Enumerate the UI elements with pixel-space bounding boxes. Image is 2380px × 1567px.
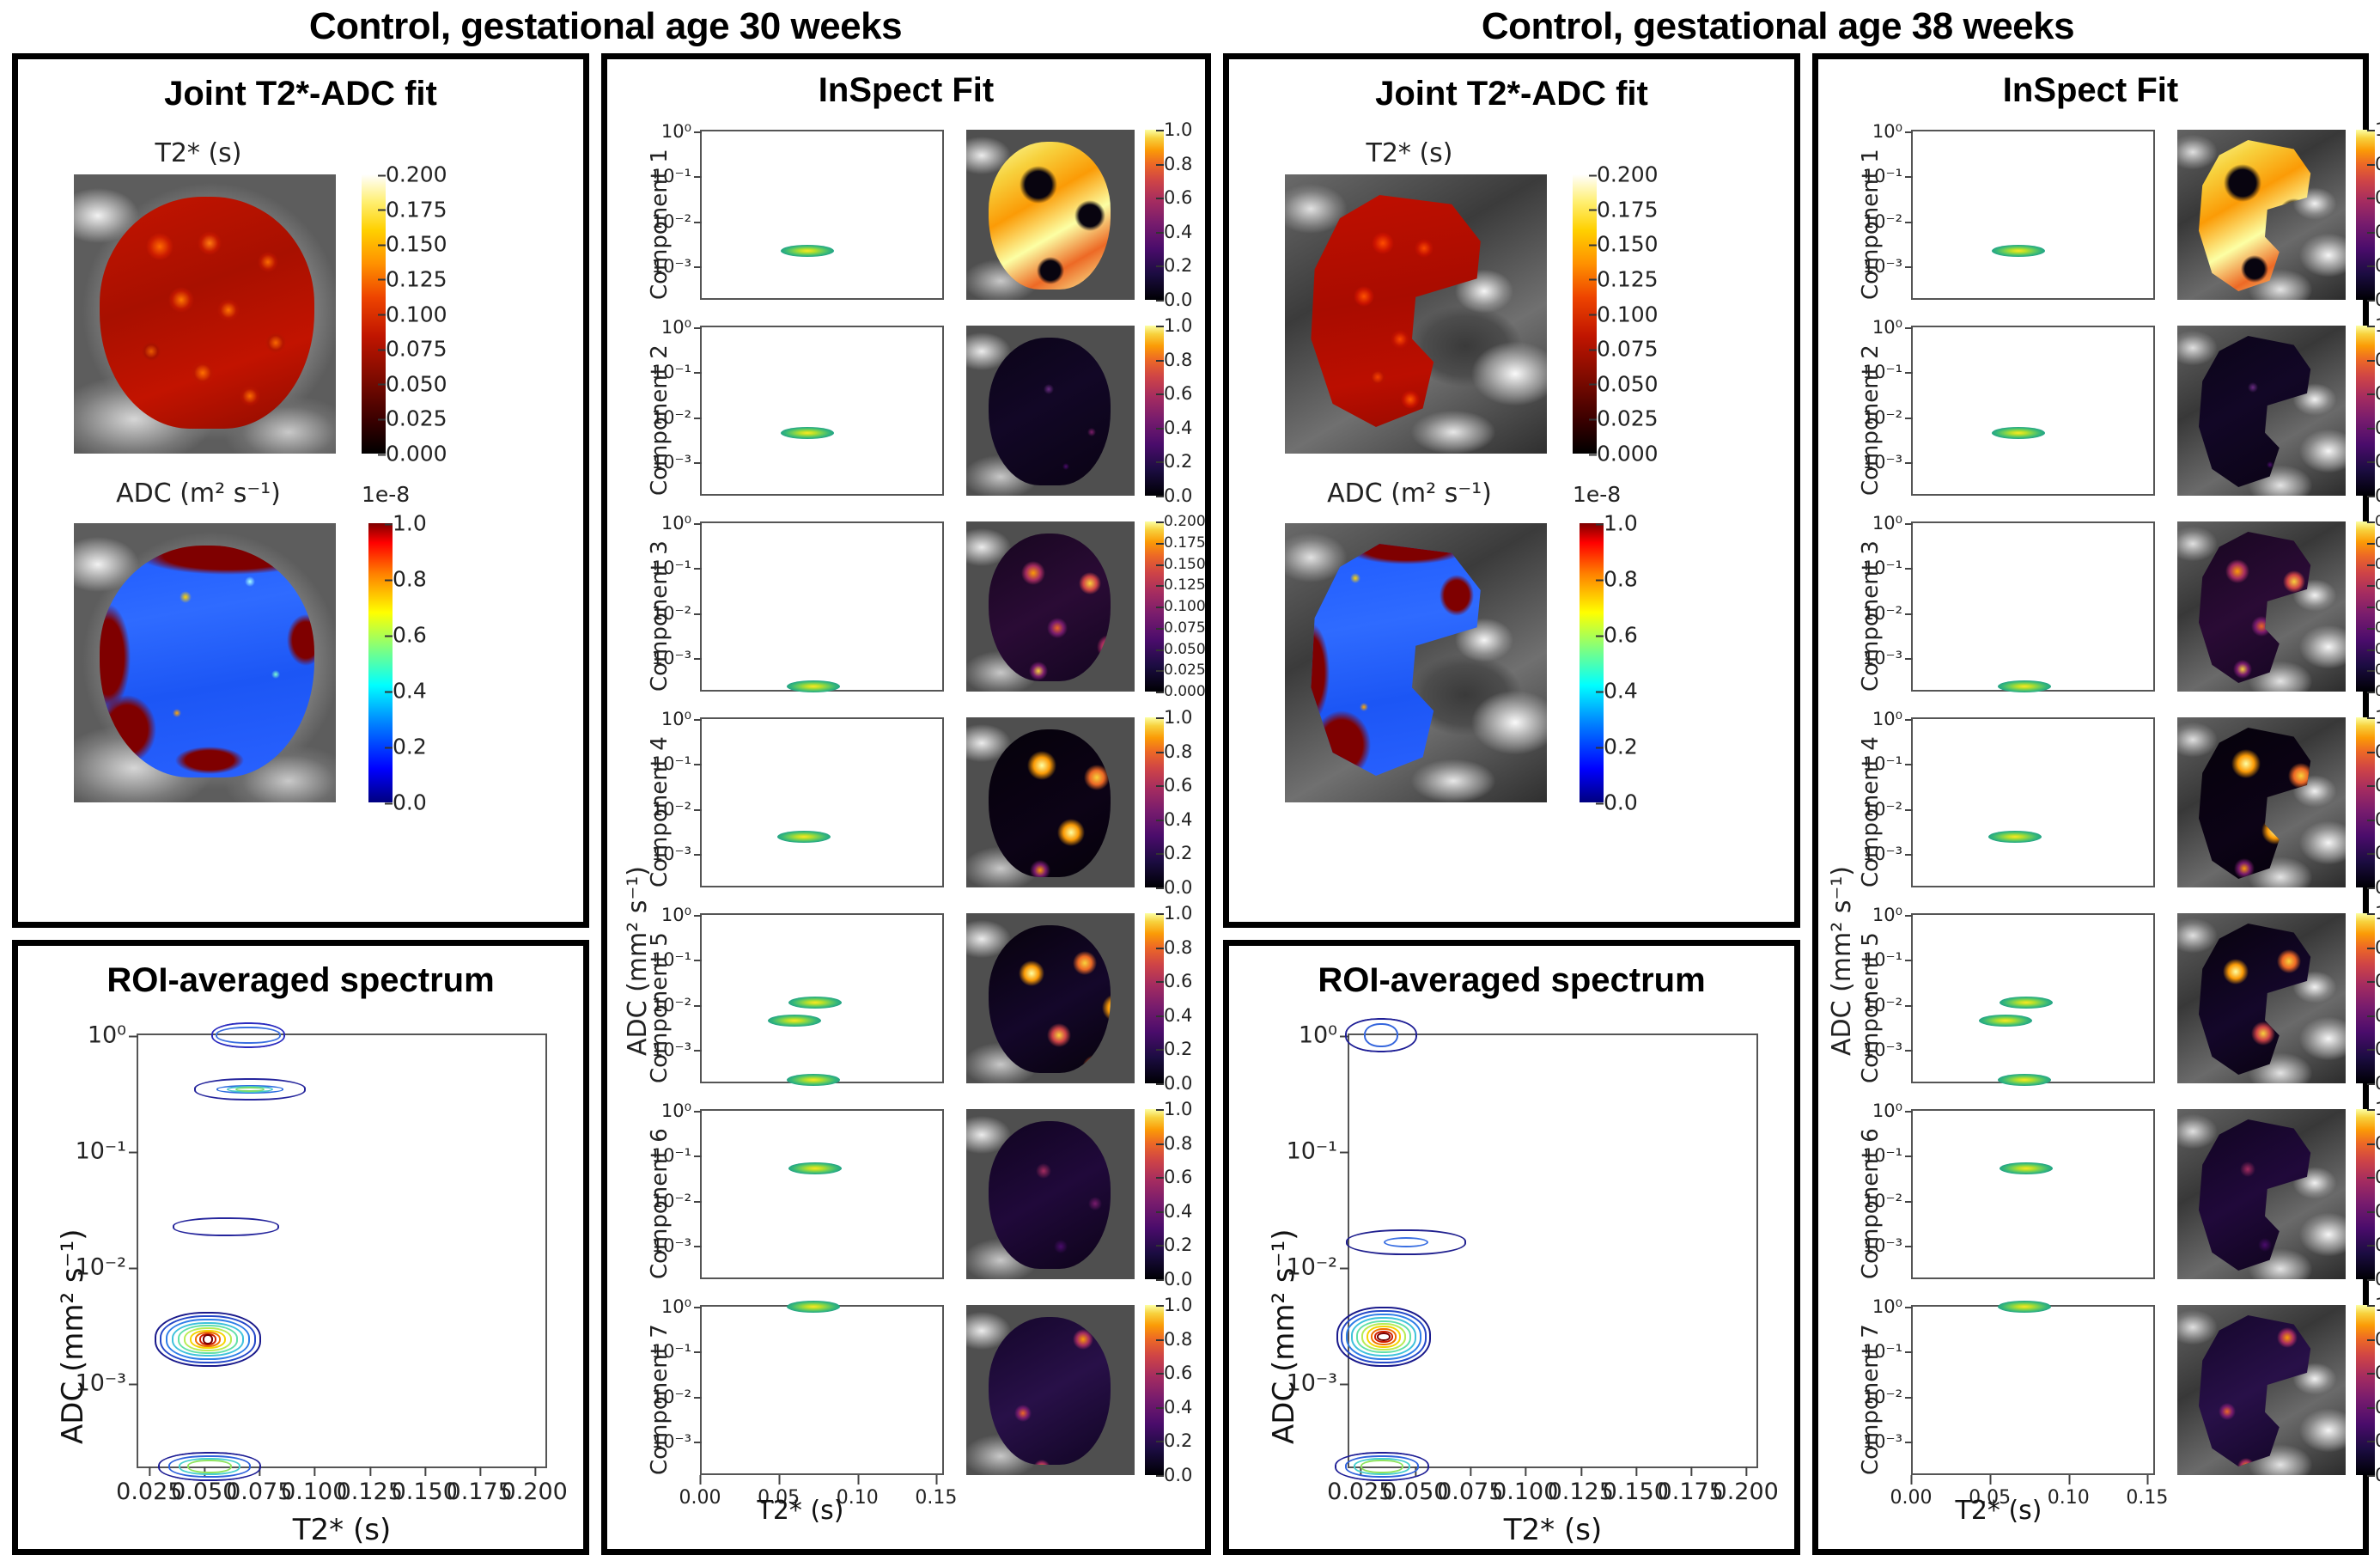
component-map: [2177, 130, 2346, 300]
component-ytick: 10⁻³: [652, 1235, 691, 1256]
component-ytick: 10⁰: [661, 709, 691, 729]
component-ytick: 10⁻²: [652, 407, 691, 428]
group-title-38wk: Control, gestational age 38 weeks: [1224, 5, 2332, 48]
cbar-tick: 0.8: [1164, 1133, 1192, 1154]
component-colorbar: 1.00.80.60.40.20.0: [1145, 130, 1164, 300]
inspect-component-row: Component 510⁰10⁻¹10⁻²10⁻³1.00.80.60.40.…: [607, 913, 1205, 1109]
cbar-tick: 0.8: [1164, 741, 1192, 762]
component-spectrum-blob: [768, 1015, 821, 1027]
cbar-tick: 0.6: [1164, 775, 1192, 796]
component-spectrum-axes: 10⁰10⁻¹10⁻²10⁻³: [1911, 130, 2155, 300]
component-colorbar: 1.00.80.60.40.20.0: [2356, 913, 2375, 1083]
component-spectrum-axes: 10⁰10⁻¹10⁻²10⁻³: [1911, 913, 2155, 1083]
component-ytick: 10⁻²: [1863, 211, 1902, 232]
component-spectrum-blob: [2000, 1162, 2053, 1174]
cbar-tick: 0.150: [1164, 556, 1206, 573]
cbar-tick: 0.4: [2375, 418, 2380, 438]
roi-ytick: 10⁻²: [76, 1254, 126, 1281]
roi-ytick: 10⁻³: [76, 1370, 126, 1397]
roi-ytick: 10⁻¹: [76, 1138, 126, 1165]
figure-root: Control, gestational age 30 weeks Contro…: [0, 0, 2380, 1567]
cbar-tick: 0.2: [1604, 735, 1638, 759]
cbar-tick: 0.200: [1597, 162, 1659, 187]
component-ytick: 10⁻¹: [652, 558, 691, 578]
inspect-xlabel-30wk: T2* (s): [659, 1496, 942, 1526]
cbar-tick: 1.0: [2375, 1295, 2380, 1315]
inspect-title-30wk: InSpect Fit: [607, 71, 1205, 110]
inspect-component-row: Component 310⁰10⁻¹10⁻²10⁻³0.2000.1750.15…: [1818, 521, 2363, 717]
cbar-tick: 0.6: [1164, 971, 1192, 991]
component-ytick: 10⁰: [1872, 513, 1902, 534]
joint-fit-title-38wk: Joint T2*-ADC fit: [1229, 75, 1794, 113]
component-ytick: 10⁰: [1872, 317, 1902, 338]
cbar-tick: 0.6: [2375, 383, 2380, 404]
component-ytick: 10⁻²: [652, 1191, 691, 1211]
inspect-component-row: Component 210⁰10⁻¹10⁻²10⁻³1.00.80.60.40.…: [607, 326, 1205, 521]
cbar-tick: 0.000: [2375, 683, 2380, 700]
roi-ytick: 10⁰: [88, 1022, 126, 1049]
component-map-overlay: [989, 729, 1111, 877]
component-ytick: 10⁻²: [652, 995, 691, 1015]
component-spectrum-blob: [777, 831, 831, 843]
t2star-map-title-38wk: T2* (s): [1229, 138, 1590, 168]
component-map-overlay: [989, 1317, 1111, 1465]
component-ytick: 10⁰: [1872, 905, 1902, 925]
cbar-tick: 0.0: [2375, 877, 2380, 898]
component-map: [966, 1305, 1135, 1475]
cbar-tick: 0.6: [393, 623, 427, 648]
cbar-tick: 0.100: [1597, 302, 1659, 326]
roi-spectrum-axes-38wk: 10⁰ 10⁻¹ 10⁻² 10⁻³ 0.025 0.050 0.075 0.1…: [1348, 1033, 1758, 1468]
component-ytick: 10⁻³: [1863, 1040, 1902, 1060]
component-map: [966, 130, 1135, 300]
cbar-tick: 0.4: [2375, 809, 2380, 830]
component-spectrum-axes: 10⁰10⁻¹10⁻²10⁻³: [700, 717, 944, 887]
component-ytick: 10⁻²: [1863, 407, 1902, 428]
cbar-tick: 0.6: [1164, 187, 1192, 208]
component-ytick: 10⁻²: [1863, 1387, 1902, 1407]
cbar-tick: 0.8: [2375, 1329, 2380, 1350]
inspect-component-row: Component 210⁰10⁻¹10⁻²10⁻³1.00.80.60.40.…: [1818, 326, 2363, 521]
component-ytick: 10⁻¹: [652, 949, 691, 970]
cbar-tick: 0.2: [2375, 843, 2380, 863]
roi-spectrum-box-38wk: ROI-averaged spectrum ADC (mm² s⁻¹) 10⁰ …: [1223, 940, 1800, 1555]
component-ytick: 10⁰: [1872, 709, 1902, 729]
cbar-tick: 0.4: [1164, 809, 1192, 830]
cbar-tick: 0.4: [1164, 1005, 1192, 1026]
component-spectrum-blob: [1998, 1074, 2051, 1086]
cbar-tick: 1.0: [1164, 315, 1192, 336]
component-ytick: 10⁻³: [652, 844, 691, 864]
component-ytick: 10⁻²: [652, 211, 691, 232]
component-map: [2177, 1305, 2346, 1475]
component-ytick: 10⁻¹: [652, 1341, 691, 1362]
component-spectrum-axes: 10⁰10⁻¹10⁻²10⁻³: [700, 521, 944, 692]
component-ytick: 10⁻³: [652, 648, 691, 668]
cbar-tick: 0.8: [1164, 1329, 1192, 1350]
roi-ytick: 10⁻²: [1287, 1254, 1337, 1281]
cbar-tick: 0.125: [1597, 266, 1659, 291]
spectrum-peak-contour: [1335, 1452, 1429, 1481]
spectrum-peak-contour: [211, 1022, 285, 1048]
component-ytick: 10⁻³: [1863, 648, 1902, 668]
cbar-tick: 0.2: [1164, 1039, 1192, 1059]
group-title-30wk: Control, gestational age 30 weeks: [52, 5, 1160, 48]
adc-overlay-roi: [100, 546, 314, 777]
cbar-tick: 0.175: [2375, 534, 2380, 552]
cbar-tick: 0.4: [2375, 1201, 2380, 1222]
cbar-tick: 0.175: [1597, 197, 1659, 222]
component-map: [2177, 1109, 2346, 1279]
cbar-tick: 0.2: [2375, 1430, 2380, 1451]
component-spectrum-blob: [781, 427, 834, 439]
roi-ytick: 10⁻³: [1287, 1370, 1337, 1397]
cbar-tick: 0.125: [2375, 576, 2380, 594]
component-colorbar: 1.00.80.60.40.20.0: [2356, 130, 2375, 300]
component-colorbar: 1.00.80.60.40.20.0: [1145, 326, 1164, 496]
spectrum-peak-contour: [1346, 1229, 1466, 1255]
cbar-tick: 0.050: [1164, 641, 1206, 658]
inspect-component-row: Component 510⁰10⁻¹10⁻²10⁻³1.00.80.60.40.…: [1818, 913, 2363, 1109]
component-ytick: 10⁻³: [1863, 1235, 1902, 1256]
adc-map-title-30wk: ADC (m² s⁻¹): [18, 479, 379, 509]
cbar-tick: 0.8: [2375, 937, 2380, 958]
component-map: [966, 326, 1135, 496]
cbar-tick: 0.175: [1164, 534, 1206, 552]
cbar-tick: 0.000: [1164, 683, 1206, 700]
roi-xtick: 0.200: [1713, 1479, 1779, 1505]
cbar-tick: 0.8: [1604, 567, 1638, 592]
component-map: [966, 913, 1135, 1083]
cbar-tick: 0.100: [2375, 598, 2380, 615]
cbar-tick: 0.075: [1597, 337, 1659, 362]
cbar-tick: 0.0: [2375, 1465, 2380, 1485]
component-map-overlay: [989, 142, 1111, 290]
inspect-component-row: Component 110⁰10⁻¹10⁻²10⁻³1.00.80.60.40.…: [607, 130, 1205, 326]
component-ytick: 10⁰: [661, 121, 691, 142]
component-map-overlay: [989, 1121, 1111, 1269]
cbar-tick: 1.0: [2375, 707, 2380, 728]
cbar-tick: 0.0: [1164, 877, 1192, 898]
cbar-tick: 0.0: [2375, 290, 2380, 310]
cbar-tick: 0.4: [1164, 1397, 1192, 1418]
component-spectrum-blob: [781, 245, 834, 257]
spectrum-peak-contour: [173, 1217, 279, 1236]
component-ytick: 10⁻³: [1863, 452, 1902, 473]
component-spectrum-blob: [1992, 427, 2045, 439]
component-spectrum-axes: 10⁰10⁻¹10⁻²10⁻³: [700, 130, 944, 300]
cbar-tick: 0.4: [1164, 1201, 1192, 1222]
t2star-colorbar-38wk: 0.200 0.175 0.150 0.125 0.100 0.075 0.05…: [1573, 174, 1597, 454]
cbar-tick: 0.8: [1164, 937, 1192, 958]
cbar-tick: 1.0: [1164, 119, 1192, 140]
cbar-tick: 0.4: [2375, 1005, 2380, 1026]
cbar-tick: 0.125: [1164, 576, 1206, 594]
cbar-tick: 0.025: [2375, 662, 2380, 679]
spectrum-peak-contour: [1336, 1307, 1431, 1367]
cbar-tick: 1.0: [2375, 903, 2380, 924]
component-ytick: 10⁻²: [652, 1387, 691, 1407]
cbar-tick: 0.200: [1164, 513, 1206, 530]
component-ytick: 10⁻³: [1863, 1431, 1902, 1452]
component-colorbar: 1.00.80.60.40.20.0: [1145, 1305, 1164, 1475]
component-ytick: 10⁻³: [652, 452, 691, 473]
component-map-overlay: [989, 925, 1111, 1073]
cbar-tick: 0.2: [393, 735, 427, 759]
cbar-tick: 0.0: [393, 790, 427, 815]
cbar-tick: 0.4: [1604, 679, 1638, 704]
component-spectrum-blob: [1988, 831, 2042, 843]
component-ytick: 10⁻³: [652, 256, 691, 277]
cbar-tick: 0.6: [1164, 1363, 1192, 1383]
component-ytick: 10⁻¹: [1863, 949, 1902, 970]
component-map: [2177, 717, 2346, 887]
cbar-tick: 0.0: [1164, 290, 1192, 310]
cbar-tick: 0.2: [2375, 1039, 2380, 1059]
cbar-tick: 0.2: [1164, 1430, 1192, 1451]
inspect-component-row: Component 410⁰10⁻¹10⁻²10⁻³1.00.80.60.40.…: [607, 717, 1205, 913]
component-ytick: 10⁻¹: [1863, 1341, 1902, 1362]
cbar-tick: 0.0: [1164, 1465, 1192, 1485]
component-ytick: 10⁻¹: [1863, 753, 1902, 774]
cbar-tick: 0.0: [2375, 485, 2380, 506]
component-spectrum-axes: 10⁰10⁻¹10⁻²10⁻³: [700, 1305, 944, 1475]
component-ytick: 10⁰: [661, 905, 691, 925]
cbar-tick: 0.4: [2375, 222, 2380, 242]
spectrum-peak-contour: [1345, 1018, 1417, 1052]
inspect-component-row: Component 710⁰10⁻¹10⁻²10⁻³0.000.050.100.…: [1818, 1305, 2363, 1501]
component-ytick: 10⁰: [1872, 121, 1902, 142]
roi-xlabel-30wk: T2* (s): [137, 1513, 547, 1547]
component-spectrum-blob: [1979, 1015, 2032, 1027]
inspect-box-38wk: InSpect Fit ADC (mm² s⁻¹) Component 110⁰…: [1812, 53, 2369, 1555]
cbar-tick: 0.6: [1164, 1167, 1192, 1187]
component-ytick: 10⁰: [661, 1296, 691, 1317]
cbar-tick: 1.0: [393, 511, 427, 536]
component-colorbar: 1.00.80.60.40.20.0: [2356, 1109, 2375, 1279]
cbar-tick: 0.6: [1164, 383, 1192, 404]
t2star-map-title-30wk: T2* (s): [18, 138, 379, 168]
component-ytick: 10⁻³: [1863, 844, 1902, 864]
inspect-component-row: Component 610⁰10⁻¹10⁻²10⁻³1.00.80.60.40.…: [1818, 1109, 2363, 1305]
adc-map-title-38wk: ADC (m² s⁻¹): [1229, 479, 1590, 509]
cbar-tick: 0.0: [2375, 1269, 2380, 1290]
inspect-title-38wk: InSpect Fit: [1818, 71, 2363, 110]
inspect-xlabel-38wk: T2* (s): [1861, 1496, 2136, 1526]
cbar-tick: 0.6: [2375, 1363, 2380, 1383]
cbar-tick: 0.2: [1164, 1235, 1192, 1255]
component-spectrum-blob: [787, 1301, 840, 1313]
joint-fit-box-38wk: Joint T2*-ADC fit T2* (s) 0.200 0.175 0.…: [1223, 53, 1800, 928]
cbar-tick: 0.8: [2375, 154, 2380, 174]
cbar-tick: 0.000: [1597, 442, 1659, 466]
component-ytick: 10⁰: [1872, 1296, 1902, 1317]
roi-ytick: 10⁻¹: [1287, 1138, 1337, 1165]
joint-fit-title-30wk: Joint T2*-ADC fit: [18, 75, 583, 113]
cbar-tick: 0.8: [393, 567, 427, 592]
cbar-tick: 0.6: [2375, 1167, 2380, 1187]
cbar-tick: 0.2: [1164, 451, 1192, 472]
inspect-component-row: Component 110⁰10⁻¹10⁻²10⁻³1.00.80.60.40.…: [1818, 130, 2363, 326]
roi-ytick: 10⁰: [1299, 1022, 1337, 1049]
adc-map-38wk: [1285, 523, 1547, 802]
component-ytick: 10⁻²: [1863, 603, 1902, 624]
component-spectrum-blob: [1998, 1301, 2051, 1313]
t2star-map-30wk: [74, 174, 336, 454]
cbar-tick: 0.6: [1604, 623, 1638, 648]
adc-colorbar-38wk: 1.0 0.8 0.6 0.4 0.2 0.0: [1580, 523, 1604, 802]
component-ytick: 10⁻¹: [1863, 558, 1902, 578]
component-spectrum-axes: 10⁰10⁻¹10⁻²10⁻³: [700, 326, 944, 496]
adc-map-30wk: [74, 523, 336, 802]
component-map: [2177, 326, 2346, 496]
component-spectrum-blob: [1992, 245, 2045, 257]
cbar-tick: 1.0: [1164, 903, 1192, 924]
cbar-tick: 0.0: [1604, 790, 1638, 815]
cbar-tick: 0.8: [2375, 350, 2380, 370]
component-spectrum-axes: 10⁰10⁻¹10⁻²10⁻³: [700, 913, 944, 1083]
cbar-tick: 0.150: [2375, 556, 2380, 573]
component-map: [966, 1109, 1135, 1279]
cbar-tick: 1.0: [1164, 1295, 1192, 1315]
component-spectrum-axes: 10⁰10⁻¹10⁻²10⁻³: [1911, 521, 2155, 692]
component-colorbar: 1.00.80.60.40.20.0: [1145, 913, 1164, 1083]
cbar-tick: 0.200: [386, 162, 447, 187]
cbar-tick: 1.0: [1164, 707, 1192, 728]
cbar-tick: 0.050: [1597, 371, 1659, 396]
cbar-tick: 0.025: [1597, 406, 1659, 431]
cbar-tick: 0.025: [1164, 662, 1206, 679]
component-spectrum-blob: [788, 997, 842, 1009]
component-map: [966, 521, 1135, 692]
inspect-box-30wk: InSpect Fit ADC (mm² s⁻¹) Component 110⁰…: [601, 53, 1211, 1555]
cbar-tick: 0.8: [1164, 350, 1192, 370]
cbar-tick: 0.8: [1164, 154, 1192, 174]
cbar-tick: 0.075: [1164, 619, 1206, 637]
cbar-tick: 0.0: [1164, 1073, 1192, 1094]
cbar-tick: 0.4: [2375, 1397, 2380, 1418]
cbar-tick: 0.050: [386, 371, 447, 396]
cbar-tick: 0.6: [2375, 971, 2380, 991]
cbar-tick: 0.200: [2375, 513, 2380, 530]
roi-spectrum-title-30wk: ROI-averaged spectrum: [18, 961, 583, 1000]
component-colorbar: 1.00.80.60.40.20.0: [2356, 717, 2375, 887]
component-ytick: 10⁻¹: [1863, 166, 1902, 186]
adc-colorbar-exponent-38wk: 1e-8: [1573, 482, 1621, 507]
cbar-tick: 0.025: [386, 406, 447, 431]
cbar-tick: 0.0: [2375, 1073, 2380, 1094]
cbar-tick: 0.075: [2375, 619, 2380, 637]
cbar-tick: 0.6: [2375, 187, 2380, 208]
component-colorbar: 0.2000.1750.1500.1250.1000.0750.0500.025…: [1145, 521, 1164, 692]
component-ytick: 10⁰: [661, 317, 691, 338]
inspect-component-row: Component 310⁰10⁻¹10⁻²10⁻³0.2000.1750.15…: [607, 521, 1205, 717]
component-colorbar: 1.00.80.60.40.20.0: [2356, 326, 2375, 496]
t2star-colorbar-30wk: 0.200 0.175 0.150 0.125 0.100 0.075 0.05…: [362, 174, 386, 454]
component-ytick: 10⁻²: [1863, 995, 1902, 1015]
component-ytick: 10⁻²: [1863, 1191, 1902, 1211]
adc-colorbar-30wk: 1.0 0.8 0.6 0.4 0.2 0.0: [368, 523, 393, 802]
cbar-tick: 0.2: [2375, 255, 2380, 276]
component-ytick: 10⁻¹: [1863, 1145, 1902, 1166]
cbar-tick: 0.125: [386, 266, 447, 291]
cbar-tick: 0.175: [386, 197, 447, 222]
cbar-tick: 0.4: [1164, 222, 1192, 242]
component-ytick: 10⁻¹: [1863, 362, 1902, 382]
roi-spectrum-axes-30wk: 10⁰ 10⁻¹ 10⁻² 10⁻³ 0.025 0.050 0.075 0.1…: [137, 1033, 547, 1468]
spectrum-peak-contour: [155, 1312, 261, 1367]
joint-fit-box-30wk: Joint T2*-ADC fit T2* (s) 0.200 0.175 0.…: [12, 53, 589, 928]
component-map: [2177, 913, 2346, 1083]
cbar-tick: 0.100: [386, 302, 447, 326]
component-spectrum-blob: [787, 680, 840, 692]
cbar-tick: 1.0: [2375, 315, 2380, 336]
component-map-overlay: [989, 534, 1111, 681]
cbar-tick: 0.4: [393, 679, 427, 704]
cbar-tick: 0.050: [2375, 641, 2380, 658]
component-ytick: 10⁻¹: [652, 362, 691, 382]
component-ytick: 10⁻¹: [652, 753, 691, 774]
roi-xlabel-38wk: T2* (s): [1348, 1513, 1758, 1547]
component-colorbar: 0.2000.1750.1500.1250.1000.0750.0500.025…: [2356, 521, 2375, 692]
t2star-map-38wk: [1285, 174, 1547, 454]
roi-spectrum-box-30wk: ROI-averaged spectrum ADC (mm² s⁻¹) 10⁰ …: [12, 940, 589, 1555]
component-colorbar: 1.00.80.60.40.20.0: [1145, 1109, 1164, 1279]
component-spectrum-axes: 10⁰10⁻¹10⁻²10⁻³: [1911, 1109, 2155, 1279]
cbar-tick: 0.150: [1597, 232, 1659, 257]
cbar-tick: 0.2: [2375, 451, 2380, 472]
cbar-tick: 0.2: [1164, 255, 1192, 276]
cbar-tick: 0.6: [2375, 775, 2380, 796]
component-spectrum-blob: [1998, 680, 2051, 692]
component-spectrum-blob: [2000, 997, 2053, 1009]
component-colorbar: 1.00.80.60.40.20.0: [2356, 1305, 2375, 1475]
component-spectrum-axes: 10⁰10⁻¹10⁻²10⁻³: [1911, 326, 2155, 496]
cbar-tick: 0.075: [386, 337, 447, 362]
component-colorbar: 1.00.80.60.40.20.0: [1145, 717, 1164, 887]
component-ytick: 10⁻³: [1863, 256, 1902, 277]
spectrum-peak-contour: [158, 1452, 261, 1481]
component-spectrum-axes: 10⁰10⁻¹10⁻²10⁻³: [1911, 1305, 2155, 1475]
component-ytick: 10⁰: [661, 1101, 691, 1121]
cbar-tick: 1.0: [2375, 119, 2380, 140]
cbar-tick: 0.150: [386, 232, 447, 257]
component-ytick: 10⁻¹: [652, 1145, 691, 1166]
component-map: [2177, 521, 2346, 692]
component-ytick: 10⁻²: [652, 799, 691, 820]
component-ytick: 10⁻²: [652, 603, 691, 624]
inspect-component-row: Component 410⁰10⁻¹10⁻²10⁻³1.00.80.60.40.…: [1818, 717, 2363, 913]
component-ytick: 10⁰: [661, 513, 691, 534]
inspect-component-row: Component 610⁰10⁻¹10⁻²10⁻³1.00.80.60.40.…: [607, 1109, 1205, 1305]
cbar-tick: 0.100: [1164, 598, 1206, 615]
cbar-tick: 0.000: [386, 442, 447, 466]
component-ytick: 10⁰: [1872, 1101, 1902, 1121]
t2star-overlay-roi: [100, 197, 314, 429]
cbar-tick: 0.8: [2375, 741, 2380, 762]
component-map: [966, 717, 1135, 887]
cbar-tick: 0.0: [1164, 485, 1192, 506]
component-ytick: 10⁻³: [652, 1040, 691, 1060]
cbar-tick: 0.4: [1164, 418, 1192, 438]
roi-spectrum-title-38wk: ROI-averaged spectrum: [1229, 961, 1794, 1000]
cbar-tick: 0.2: [1164, 843, 1192, 863]
adc-colorbar-exponent-30wk: 1e-8: [362, 482, 410, 507]
cbar-tick: 1.0: [1604, 511, 1638, 536]
cbar-tick: 1.0: [2375, 1099, 2380, 1119]
component-spectrum-blob: [787, 1074, 840, 1086]
inspect-component-row: Component 710⁰10⁻¹10⁻²10⁻³0.000.050.100.…: [607, 1305, 1205, 1501]
